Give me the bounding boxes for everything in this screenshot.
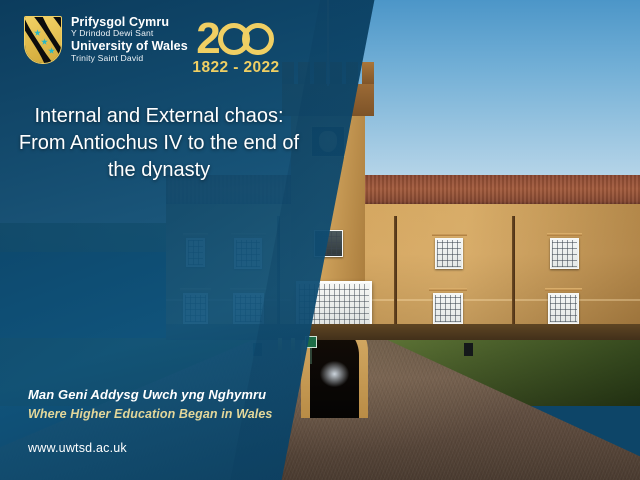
anniversary-numeral-row: 2 xyxy=(184,20,288,58)
anniversary-numeral-two: 2 xyxy=(196,17,218,61)
strapline-english: Where Higher Education Began in Wales xyxy=(28,405,272,423)
uwtsd-shield-crest-icon xyxy=(24,16,62,64)
logo-line-y-drindod: Y Drindod Dewi Sant xyxy=(71,29,188,38)
logo-line-university: University of Wales xyxy=(71,40,188,53)
presentation-slide: Prifysgol Cymru Y Drindod Dewi Sant Univ… xyxy=(0,0,640,480)
logo-line-trinity: Trinity Saint David xyxy=(71,54,188,63)
double-zero-infinity-icon xyxy=(218,22,276,56)
anniversary-logo: 2 1822 - 2022 xyxy=(184,20,288,77)
website-url[interactable]: www.uwtsd.ac.uk xyxy=(28,441,127,455)
logo-wordmark: Prifysgol Cymru Y Drindod Dewi Sant Univ… xyxy=(71,16,188,65)
strapline-block: Man Geni Addysg Uwch yng Nghymru Where H… xyxy=(28,386,272,423)
page-title: Internal and External chaos: From Antioc… xyxy=(18,103,300,185)
strapline-welsh: Man Geni Addysg Uwch yng Nghymru xyxy=(28,386,272,405)
logo-line-prifysgol-cymru: Prifysgol Cymru xyxy=(71,16,188,29)
slide-content: Prifysgol Cymru Y Drindod Dewi Sant Univ… xyxy=(0,0,640,480)
university-logo[interactable]: Prifysgol Cymru Y Drindod Dewi Sant Univ… xyxy=(24,16,188,65)
